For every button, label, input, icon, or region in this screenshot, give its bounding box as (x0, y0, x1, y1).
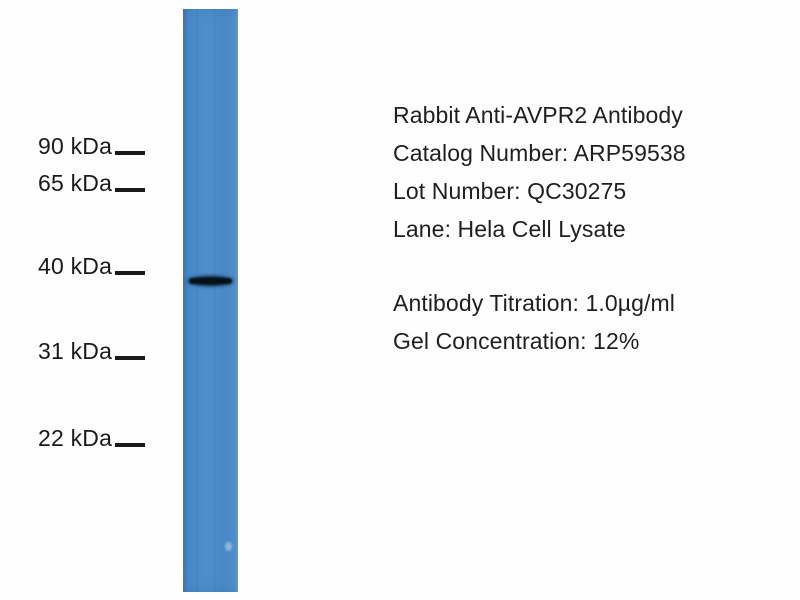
molecular-weight-ladder: 90 kDa 65 kDa 40 kDa 31 kDa 22 kDa (0, 0, 180, 600)
protein-band-core (189, 278, 232, 284)
ladder-marker-label: 65 kDa (38, 170, 112, 197)
ladder-marker-label: 90 kDa (38, 133, 112, 160)
ladder-marker-65: 65 kDa (38, 170, 145, 197)
western-blot-figure: 90 kDa 65 kDa 40 kDa 31 kDa 22 kDa Ra (0, 0, 800, 600)
lot-number-text: Lot Number: QC30275 (393, 172, 793, 210)
lane-sample-text: Lane: Hela Cell Lysate (393, 210, 793, 248)
antibody-name-text: Rabbit Anti-AVPR2 Antibody (393, 96, 793, 134)
ladder-tick-icon (115, 151, 145, 155)
ladder-tick-icon (115, 188, 145, 192)
ladder-tick-icon (115, 443, 145, 447)
lane-artifact-speck (225, 542, 232, 551)
ladder-marker-label: 31 kDa (38, 338, 112, 365)
catalog-number-text: Catalog Number: ARP59538 (393, 134, 793, 172)
lane-streak (183, 9, 186, 592)
ladder-marker-40: 40 kDa (38, 253, 145, 280)
gel-concentration-text: Gel Concentration: 12% (393, 322, 793, 360)
ladder-marker-label: 22 kDa (38, 425, 112, 452)
ladder-marker-22: 22 kDa (38, 425, 145, 452)
blot-annotation-block: Rabbit Anti-AVPR2 Antibody Catalog Numbe… (393, 96, 793, 360)
annotation-spacer (393, 248, 793, 284)
blot-lane (183, 9, 238, 592)
ladder-tick-icon (115, 356, 145, 360)
ladder-tick-icon (115, 271, 145, 275)
lane-streak (196, 9, 198, 592)
ladder-marker-90: 90 kDa (38, 133, 145, 160)
lane-streak (214, 9, 216, 592)
ladder-marker-31: 31 kDa (38, 338, 145, 365)
antibody-titration-text: Antibody Titration: 1.0µg/ml (393, 284, 793, 322)
ladder-marker-label: 40 kDa (38, 253, 112, 280)
